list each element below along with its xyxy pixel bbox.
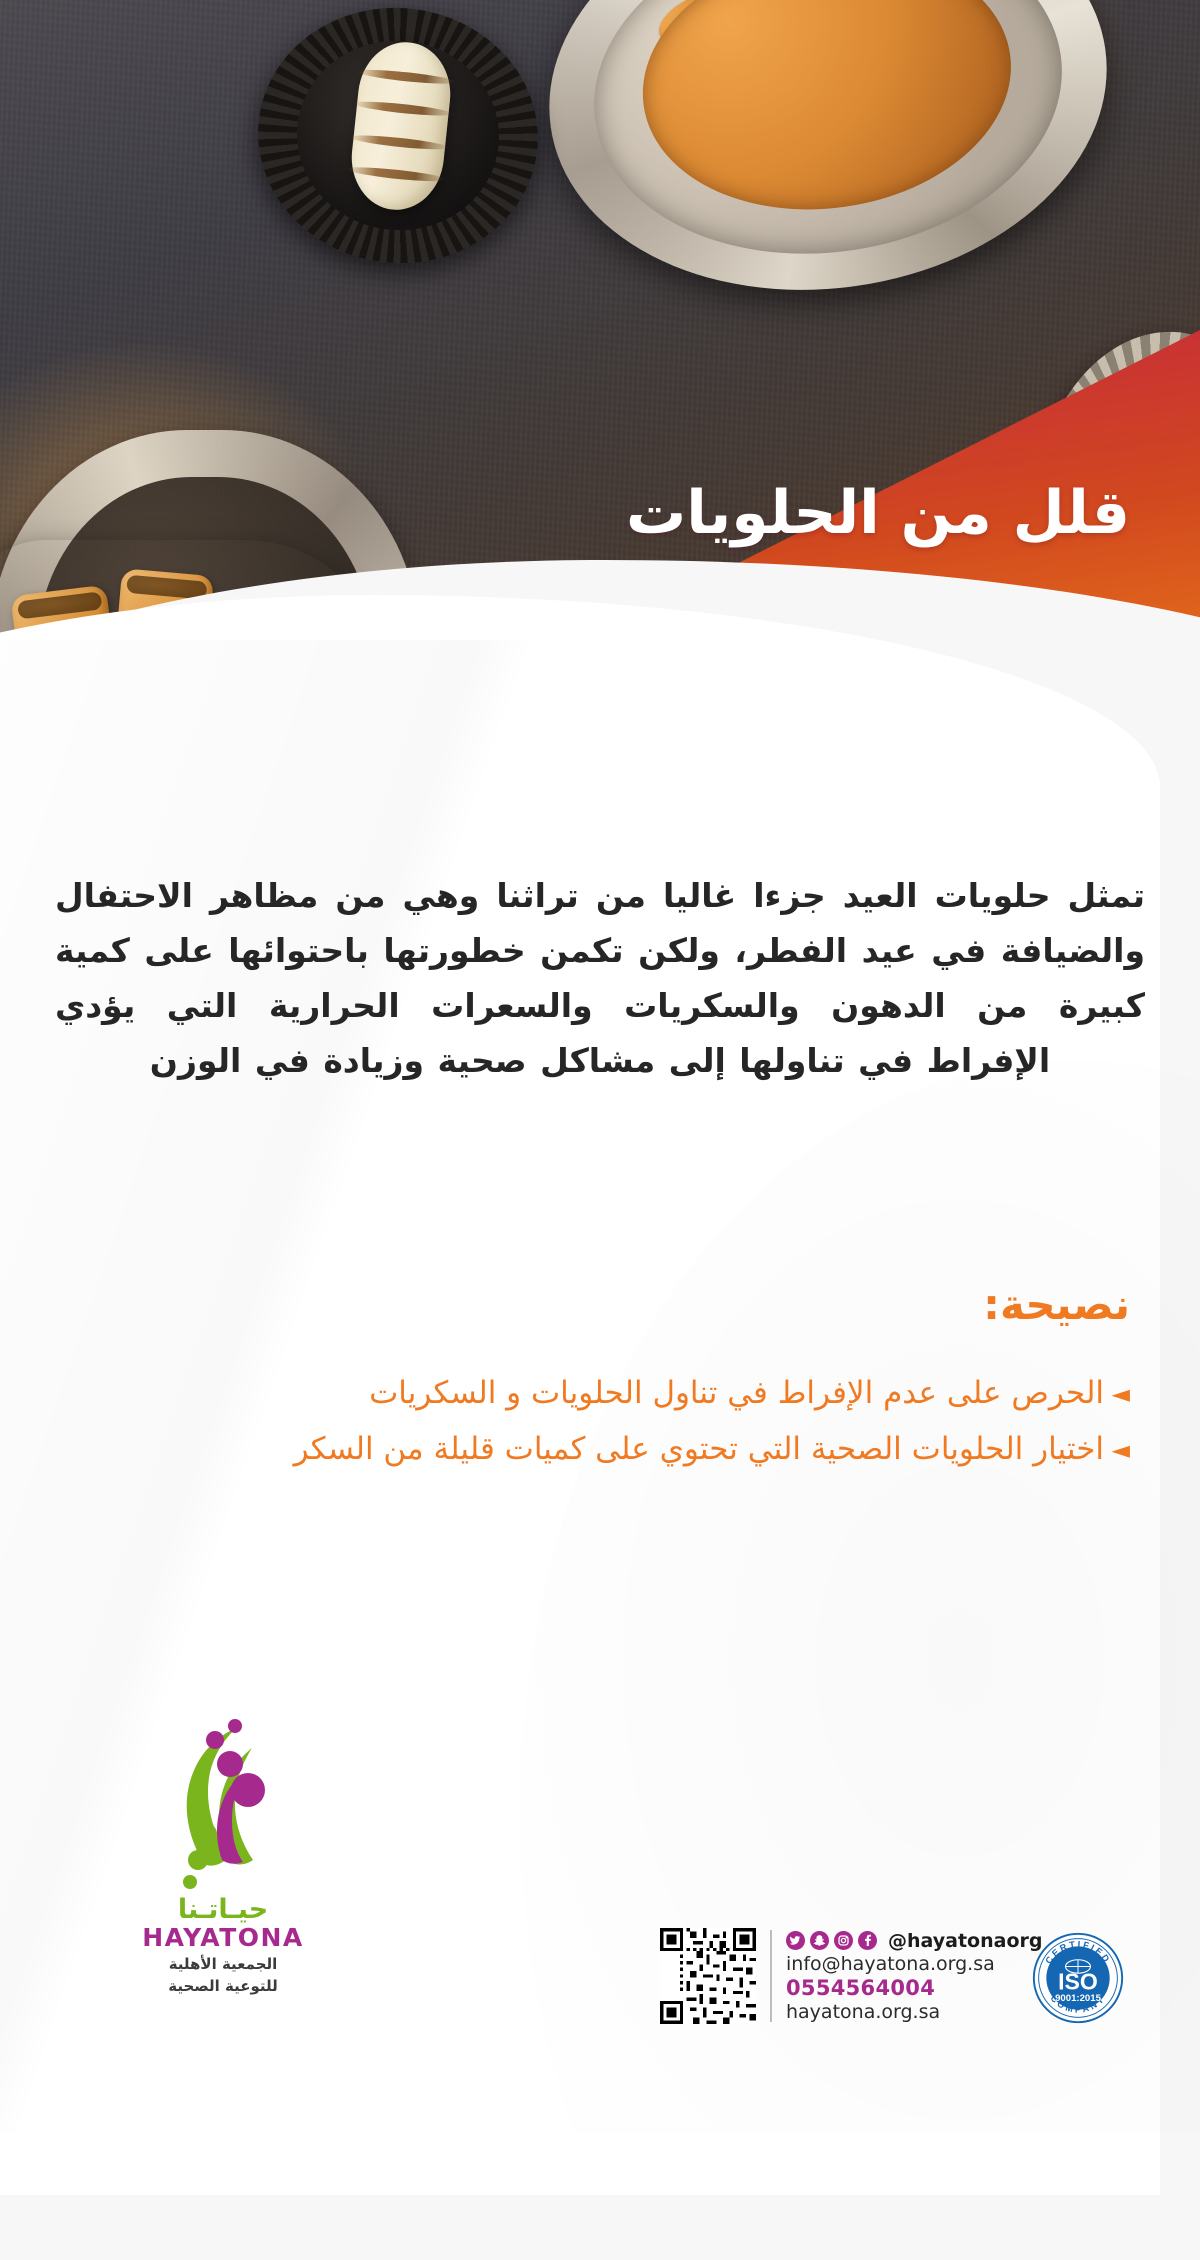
iso-standard: 9001:2015 [1055,1993,1101,2004]
advice-heading: نصيحة: [983,1280,1130,1329]
contact-email[interactable]: info@hayatona.org.sa [786,1953,1042,1975]
snapchat-icon[interactable] [810,1931,829,1950]
bullet-icon: ◄ [1112,1428,1130,1472]
list-item: ◄ الحرص على عدم الإفراط في تناول الحلويا… [180,1370,1130,1416]
logo-latin-name: HAYATONA [118,1923,328,1952]
list-item-label: اختيار الحلويات الصحية التي تحتوي على كم… [294,1431,1104,1467]
contact-strip: @hayatonaorg info@hayatona.org.sa 055456… [660,1928,1042,2024]
page-title: قلل من الحلويات [0,478,1130,548]
iso-center-text: ISO [1058,1969,1098,1995]
advice-list: ◄ الحرص على عدم الإفراط في تناول الحلويا… [180,1370,1130,1482]
logo-arabic-name: حيـاتـنا [118,1894,328,1925]
qr-code[interactable] [660,1928,756,2024]
contact-website[interactable]: hayatona.org.sa [786,2001,1042,2023]
hayatona-logo-mark [118,1712,328,1892]
social-row: @hayatonaorg [786,1930,1042,1952]
logo-subtitle-line-2: للتوعية الصحية [118,1976,328,1996]
contact-divider [770,1930,772,2022]
hayatona-logo: حيـاتـنا HAYATONA الجمعية الأهلية للتوعي… [118,1712,328,1996]
list-item: ◄ اختيار الحلويات الصحية التي تحتوي على … [180,1426,1130,1472]
logo-subtitle-line-1: الجمعية الأهلية [118,1954,328,1974]
list-item-label: الحرص على عدم الإفراط في تناول الحلويات … [369,1375,1104,1411]
bullet-icon: ◄ [1112,1372,1130,1416]
facebook-icon[interactable] [858,1931,877,1950]
iso-certification-badge: CERTIFIED COMPANY ISO 9001:2015 [1030,1930,1126,2026]
social-handle[interactable]: @hayatonaorg [888,1930,1042,1952]
body-paragraph: تمثل حلويات العيد جزءا غاليا من تراثنا و… [55,868,1145,1088]
contact-lines: @hayatonaorg info@hayatona.org.sa 055456… [786,1930,1042,2023]
instagram-icon[interactable] [834,1931,853,1950]
contact-phone[interactable]: 0554564004 [786,1976,1042,2000]
twitter-icon[interactable] [786,1931,805,1950]
